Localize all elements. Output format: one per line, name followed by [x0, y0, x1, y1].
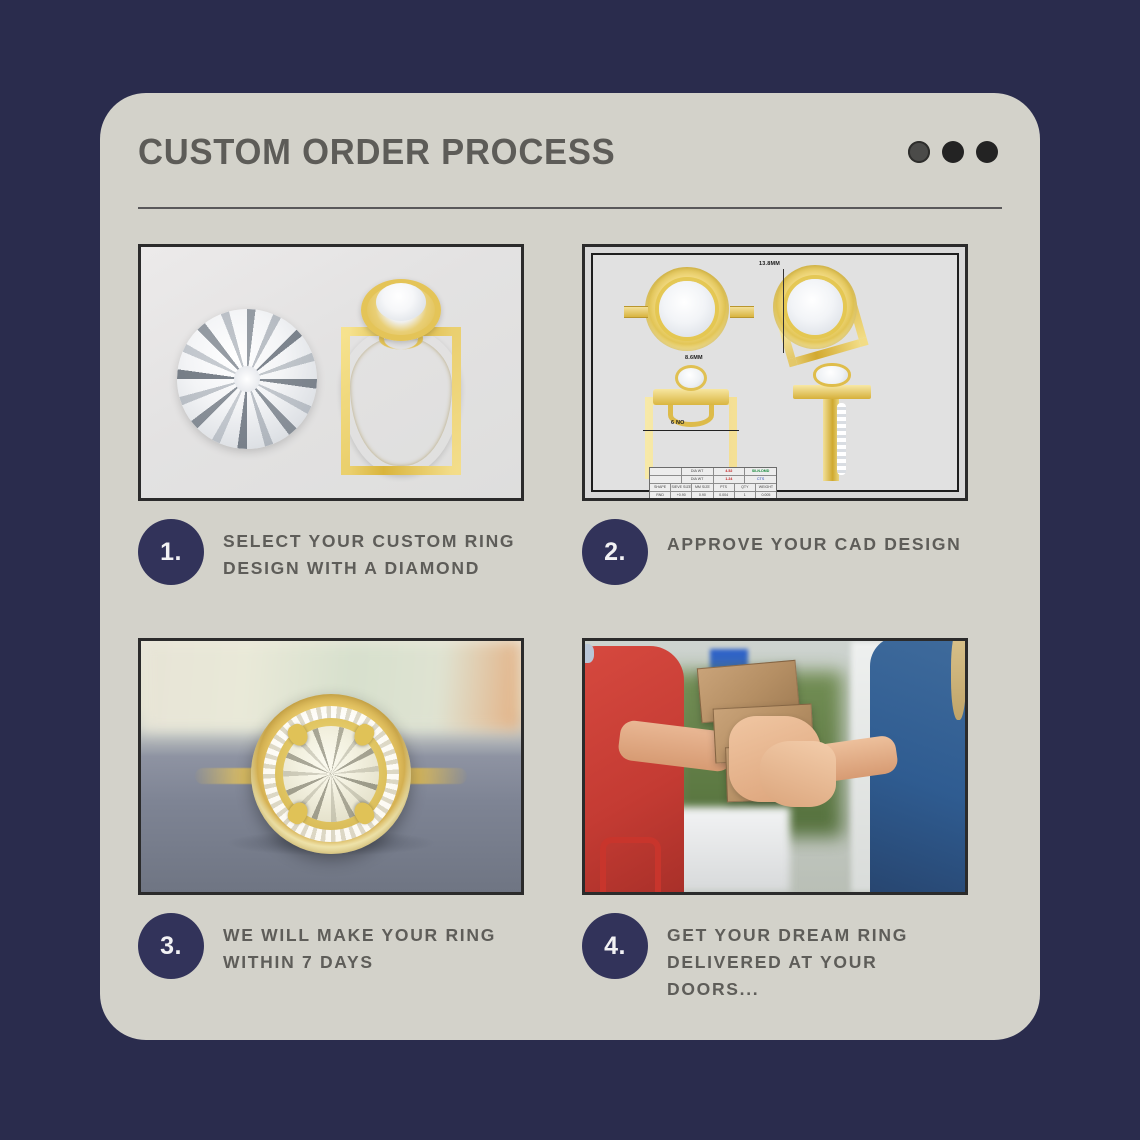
- screenshot-root: CUSTOM ORDER PROCESS: [0, 0, 1140, 1140]
- cad-gem-front: [675, 365, 707, 391]
- cad-gem-side: [813, 363, 851, 387]
- cad-halo-top: [645, 267, 729, 351]
- hand-truck: [600, 837, 661, 892]
- cad-view-top: [645, 267, 733, 355]
- cad-spec-table: DIA WT 4.52 SILN-DMD DIA WT 1.24 CTS: [649, 467, 777, 499]
- step-number-badge-1: 1.: [138, 519, 204, 585]
- cad-dimension-line-horizontal: [643, 430, 739, 431]
- customer-hands: [760, 741, 836, 806]
- step-card-1: 1. SELECT YOUR CUSTOM RING DESIGN WITH A…: [138, 244, 524, 616]
- cad-shank-left: [624, 306, 648, 318]
- window-controls[interactable]: [908, 141, 1002, 163]
- cad-sheet: 13.8MM 8.6MM 6 NO DIA WT 4.52 SILN-DMD: [591, 253, 959, 492]
- step-card-2: 13.8MM 8.6MM 6 NO DIA WT 4.52 SILN-DMD: [582, 244, 968, 616]
- cad-dimension-line-vertical: [783, 269, 784, 353]
- step-row-4: 4. GET YOUR DREAM RING DELIVERED AT YOUR…: [582, 895, 968, 1010]
- page-title: CUSTOM ORDER PROCESS: [138, 131, 616, 173]
- cad-pave-side: [837, 403, 846, 475]
- cad-halo-angled: [773, 265, 857, 349]
- step-label-4: GET YOUR DREAM RING DELIVERED AT YOUR DO…: [667, 913, 967, 1003]
- cad-dimension-ring-size: 6 NO: [671, 420, 685, 426]
- cad-view-angled: [773, 265, 865, 357]
- gold-halo-ring-profile: [327, 273, 475, 479]
- table-row: RND +0.90 0.90 0.004 1 0.005: [650, 492, 776, 499]
- process-card: CUSTOM ORDER PROCESS: [100, 93, 1040, 1040]
- step-card-3: 3. WE WILL MAKE YOUR RING WITHIN 7 DAYS: [138, 638, 524, 1010]
- step-card-4: 4. GET YOUR DREAM RING DELIVERED AT YOUR…: [582, 638, 968, 1010]
- table-row: DIA WT 1.24 CTS: [650, 476, 776, 484]
- cell-silndmd: SILN-DMD: [745, 468, 776, 475]
- finished-halo-ring-photo: [138, 638, 524, 895]
- steps-grid: 1. SELECT YOUR CUSTOM RING DESIGN WITH A…: [138, 244, 1002, 1010]
- step-number-badge-3: 3.: [138, 913, 204, 979]
- cad-dimension-height: 8.6MM: [685, 355, 703, 361]
- diamond-table-facet: [234, 366, 260, 392]
- package-delivery-photo: [582, 638, 968, 895]
- step-row-3: 3. WE WILL MAKE YOUR RING WITHIN 7 DAYS: [138, 895, 524, 1010]
- table-row: SHAPE SIEVE SIZE MM SIZE PTS QTY WEIGHT: [650, 484, 776, 492]
- cad-shank-right: [730, 306, 754, 318]
- table-row: DIA WT 4.52 SILN-DMD: [650, 468, 776, 476]
- step-number-badge-4: 4.: [582, 913, 648, 979]
- diamond-and-gold-ring-photo: [138, 244, 524, 501]
- window-dot-1-icon[interactable]: [908, 141, 930, 163]
- halo-ring-top-view: [243, 686, 419, 862]
- face-mask-icon: [582, 644, 594, 664]
- cad-view-front: [635, 363, 747, 479]
- card-header: CUSTOM ORDER PROCESS: [138, 93, 1002, 211]
- window-dot-2-icon[interactable]: [942, 141, 964, 163]
- cad-dimension-diameter: 13.8MM: [759, 261, 780, 267]
- step-row-2: 2. APPROVE YOUR CAD DESIGN: [582, 501, 968, 616]
- window-dot-3-icon[interactable]: [976, 141, 998, 163]
- cad-head-side: [793, 385, 871, 399]
- step-label-3: WE WILL MAKE YOUR RING WITHIN 7 DAYS: [223, 913, 523, 976]
- cad-view-side: [789, 363, 875, 481]
- step-number-badge-2: 2.: [582, 519, 648, 585]
- ring-center-stone: [376, 283, 426, 321]
- cell-dia-wt-value: 4.52: [714, 468, 746, 475]
- step-label-2: APPROVE YOUR CAD DESIGN: [667, 519, 962, 558]
- step-label-1: SELECT YOUR CUSTOM RING DESIGN WITH A DI…: [223, 519, 523, 582]
- cell-dia-wt-label: DIA WT: [682, 468, 714, 475]
- round-diamond-icon: [177, 309, 317, 449]
- cad-technical-drawing: 13.8MM 8.6MM 6 NO DIA WT 4.52 SILN-DMD: [582, 244, 968, 501]
- cad-head-front: [653, 389, 729, 405]
- customer-hair: [951, 638, 966, 720]
- step-row-1: 1. SELECT YOUR CUSTOM RING DESIGN WITH A…: [138, 501, 524, 616]
